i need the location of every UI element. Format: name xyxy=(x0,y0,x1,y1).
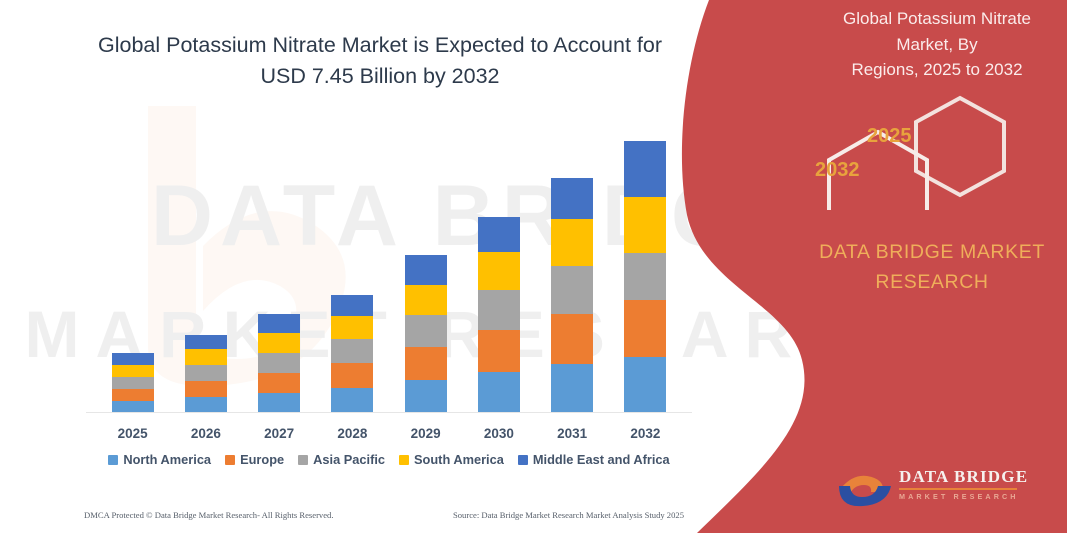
footer: DMCA Protected © Data Bridge Market Rese… xyxy=(84,506,684,524)
x-axis-label: 2031 xyxy=(537,426,607,441)
bar-segment xyxy=(478,372,520,412)
legend-swatch-icon xyxy=(108,455,118,465)
bar-segment xyxy=(112,377,154,389)
right-red-panel: Global Potassium Nitrate Market, By Regi… xyxy=(667,0,1067,533)
hexagon-2032-label: 2032 xyxy=(815,159,860,182)
x-axis-label: 2026 xyxy=(171,426,241,441)
bar-column xyxy=(98,120,168,412)
bar-column xyxy=(391,120,461,412)
legend-label: North America xyxy=(123,452,211,467)
bar-segment xyxy=(112,365,154,377)
chart-title-line2: USD 7.45 Billion by 2032 xyxy=(60,61,700,92)
stacked-bar xyxy=(112,353,154,412)
x-axis-line xyxy=(86,412,692,413)
panel-shape xyxy=(667,0,1067,533)
stacked-bar xyxy=(478,217,520,412)
legend-label: Asia Pacific xyxy=(313,452,385,467)
chart-title-line1: Global Potassium Nitrate Market is Expec… xyxy=(60,30,700,61)
legend-item[interactable]: South America xyxy=(399,452,504,467)
stacked-bar xyxy=(258,314,300,412)
logo-mark-icon xyxy=(837,462,893,508)
bar-segment xyxy=(112,353,154,365)
bar-segment xyxy=(258,353,300,373)
panel-title-line1: Global Potassium Nitrate Market, By xyxy=(817,6,1057,57)
bar-segment xyxy=(405,255,447,285)
logo-main-text: DATA BRIDGE xyxy=(899,468,1028,485)
logo-sub-text: MARKET RESEARCH xyxy=(899,492,1028,501)
bar-segment xyxy=(331,388,373,412)
bar-segment xyxy=(624,197,666,253)
stacked-bar xyxy=(624,141,666,412)
bar-segment xyxy=(185,365,227,381)
hexagon-2032-icon xyxy=(829,132,927,210)
bar-segment xyxy=(624,300,666,357)
x-axis-label: 2027 xyxy=(244,426,314,441)
bar-segment xyxy=(331,363,373,388)
panel-brand-line2: RESEARCH xyxy=(807,268,1057,298)
legend-item[interactable]: Middle East and Africa xyxy=(518,452,670,467)
bar-segment xyxy=(331,295,373,316)
bar-segment xyxy=(112,401,154,412)
stacked-bar xyxy=(331,295,373,412)
panel-title-line2: Regions, 2025 to 2032 xyxy=(817,57,1057,83)
bar-segment xyxy=(478,252,520,290)
bar-segment xyxy=(112,389,154,401)
footer-copyright: DMCA Protected © Data Bridge Market Rese… xyxy=(84,510,334,520)
bar-segment xyxy=(405,347,447,380)
bar-segment xyxy=(624,141,666,197)
bar-group xyxy=(96,120,682,412)
bar-segment xyxy=(258,314,300,333)
company-logo: DATA BRIDGE MARKET RESEARCH xyxy=(837,462,1047,512)
bar-segment xyxy=(551,178,593,219)
legend-swatch-icon xyxy=(225,455,235,465)
hexagon-2025-icon xyxy=(916,98,1004,195)
chart-legend: North AmericaEuropeAsia PacificSouth Ame… xyxy=(96,452,682,467)
legend-item[interactable]: North America xyxy=(108,452,211,467)
bar-segment xyxy=(331,339,373,363)
legend-label: South America xyxy=(414,452,504,467)
bar-segment xyxy=(624,253,666,300)
bar-segment xyxy=(551,266,593,314)
chart-title: Global Potassium Nitrate Market is Expec… xyxy=(60,30,700,91)
bar-segment xyxy=(405,315,447,347)
chart-plot-area xyxy=(96,120,682,412)
x-axis-label: 2028 xyxy=(317,426,387,441)
stacked-bar xyxy=(185,335,227,412)
x-axis-label: 2032 xyxy=(610,426,680,441)
bar-segment xyxy=(624,357,666,412)
stacked-bar xyxy=(551,178,593,412)
bar-segment xyxy=(258,333,300,353)
legend-item[interactable]: Europe xyxy=(225,452,284,467)
bar-segment xyxy=(185,397,227,412)
bar-segment xyxy=(405,285,447,315)
bar-segment xyxy=(478,330,520,372)
logo-divider xyxy=(899,488,1017,490)
bar-column xyxy=(464,120,534,412)
infographic-canvas: DATA BRIDGE MARKET RESEARCH Global Potas… xyxy=(0,0,1067,533)
hexagon-shapes xyxy=(767,95,1047,210)
bar-segment xyxy=(185,349,227,365)
bar-segment xyxy=(551,219,593,266)
panel-brand: DATA BRIDGE MARKET RESEARCH xyxy=(807,238,1057,297)
bar-column xyxy=(244,120,314,412)
footer-source: Source: Data Bridge Market Research Mark… xyxy=(453,510,684,520)
bar-segment xyxy=(551,314,593,364)
bar-segment xyxy=(185,335,227,349)
bar-segment xyxy=(258,393,300,412)
bar-column xyxy=(317,120,387,412)
bar-column xyxy=(537,120,607,412)
panel-title: Global Potassium Nitrate Market, By Regi… xyxy=(817,6,1057,83)
x-axis-label: 2025 xyxy=(98,426,168,441)
bar-segment xyxy=(405,380,447,412)
bar-segment xyxy=(185,381,227,397)
legend-item[interactable]: Asia Pacific xyxy=(298,452,385,467)
stacked-bar xyxy=(405,255,447,412)
x-axis-label: 2029 xyxy=(391,426,461,441)
bar-segment xyxy=(478,217,520,252)
legend-swatch-icon xyxy=(298,455,308,465)
bar-column xyxy=(610,120,680,412)
legend-swatch-icon xyxy=(518,455,528,465)
legend-label: Europe xyxy=(240,452,284,467)
legend-label: Middle East and Africa xyxy=(533,452,670,467)
bar-segment xyxy=(551,364,593,412)
bar-segment xyxy=(258,373,300,393)
bar-segment xyxy=(331,316,373,339)
panel-brand-line1: DATA BRIDGE MARKET xyxy=(807,238,1057,268)
bar-column xyxy=(171,120,241,412)
hexagon-group xyxy=(767,95,1047,210)
legend-swatch-icon xyxy=(399,455,409,465)
hexagon-2025-label: 2025 xyxy=(867,125,912,148)
x-axis-label: 2030 xyxy=(464,426,534,441)
bar-segment xyxy=(478,290,520,330)
x-axis-labels: 20252026202720282029203020312032 xyxy=(96,420,682,446)
